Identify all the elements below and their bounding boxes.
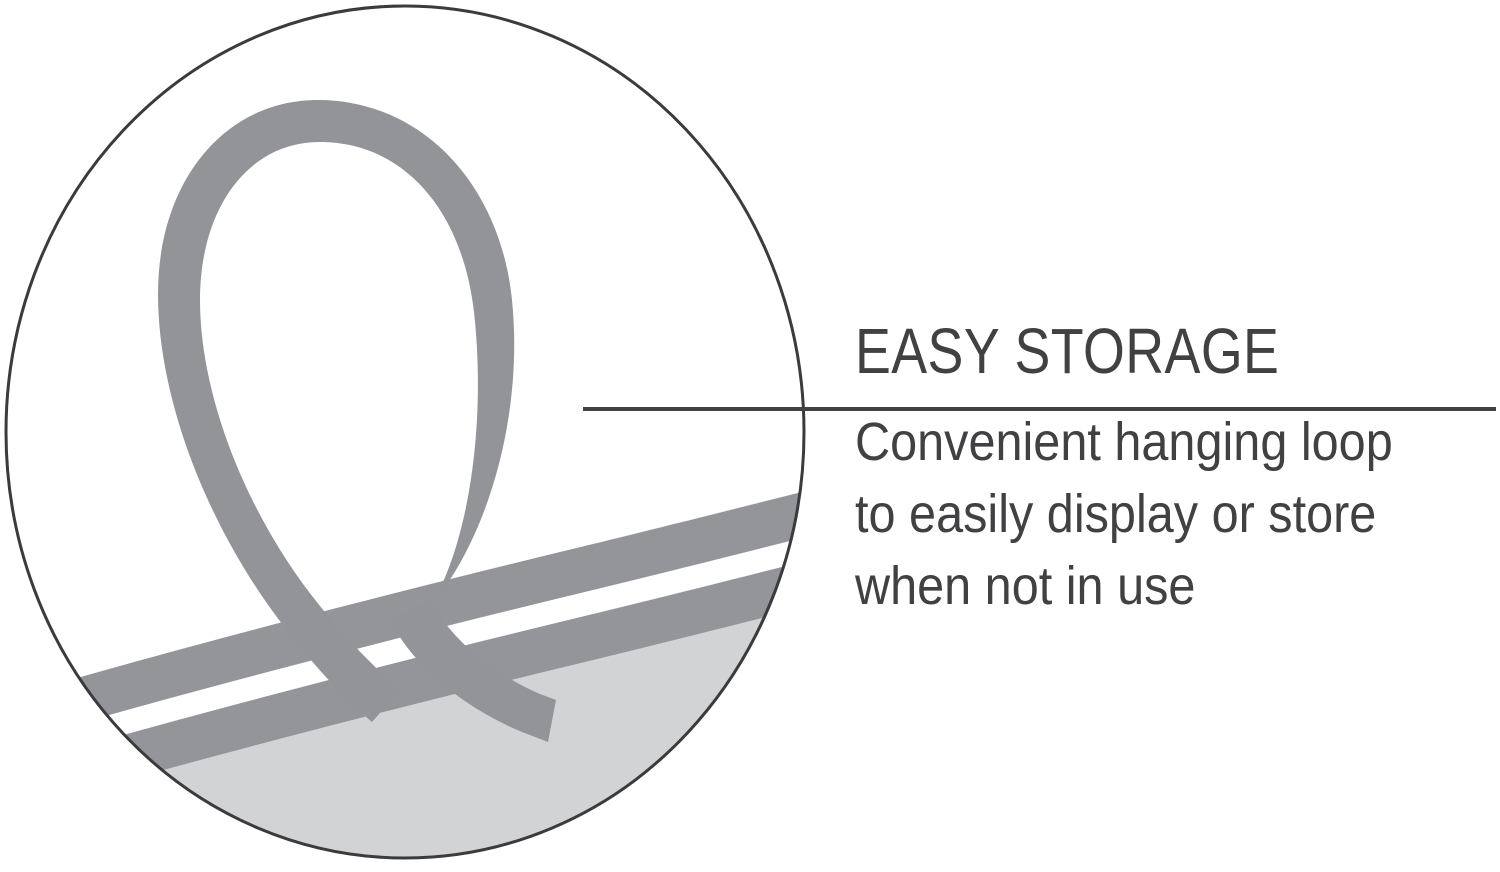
callout-heading: EASY STORAGE — [855, 318, 1397, 384]
callout-body: Convenient hanging loop to easily displa… — [855, 384, 1436, 622]
callout-body-line-3: when not in use — [855, 550, 1436, 622]
callout-body-line-1: Convenient hanging loop — [855, 406, 1436, 478]
callout-text-block: EASY STORAGE Convenient hanging loop to … — [855, 318, 1500, 622]
callout-body-line-2: to easily display or store — [855, 478, 1436, 550]
hanging-loop-illustration — [0, 0, 830, 872]
feature-callout-panel: EASY STORAGE Convenient hanging loop to … — [0, 0, 1500, 872]
